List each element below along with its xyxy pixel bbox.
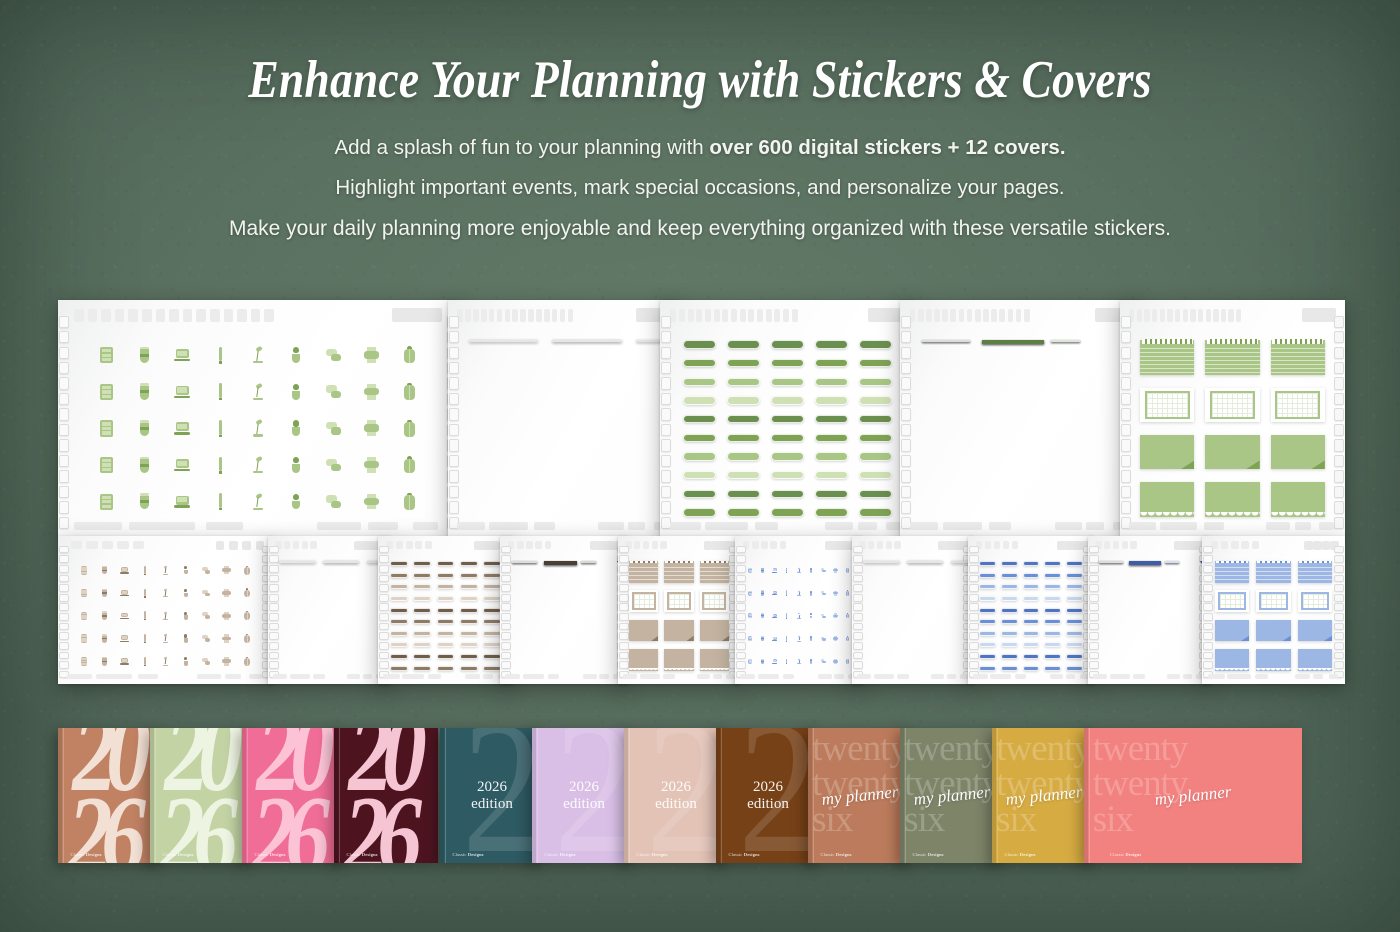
page-tab-15[interactable] xyxy=(792,309,798,322)
footer-button-3[interactable] xyxy=(931,674,944,679)
sticker-icon-laptop[interactable] xyxy=(120,565,130,575)
sticker-icon-envelope[interactable] xyxy=(748,636,754,642)
footer-button-5[interactable] xyxy=(249,674,263,679)
sticker-icon-office-building[interactable] xyxy=(120,588,130,598)
sticker-card-box[interactable] xyxy=(907,561,944,563)
side-tab-apr[interactable] xyxy=(501,584,511,592)
sticker-label-pill[interactable] xyxy=(1066,596,1083,601)
page-tab-1[interactable] xyxy=(71,541,82,549)
sticker-note-spiral[interactable] xyxy=(1271,340,1325,375)
sticker-icon-notebook[interactable] xyxy=(808,590,814,596)
settings-icon[interactable] xyxy=(590,541,599,550)
side-tab-aug[interactable] xyxy=(501,623,511,631)
sticker-label-pill[interactable] xyxy=(771,471,804,479)
sticker-label-pill[interactable] xyxy=(727,396,760,404)
sticker-label-pill[interactable] xyxy=(413,631,431,636)
footer-button-0[interactable] xyxy=(1093,674,1108,679)
sticker-icon-calculator[interactable] xyxy=(784,613,790,619)
eraser-icon[interactable] xyxy=(953,541,962,550)
sticker-icon-potted-plant[interactable] xyxy=(287,346,305,364)
sticker-icon-usb-drive[interactable] xyxy=(173,456,191,474)
sticker-note-spiral[interactable] xyxy=(629,561,658,583)
side-tab-nov[interactable] xyxy=(379,652,389,660)
highlighter-icon[interactable] xyxy=(1181,541,1190,550)
side-tab-jun[interactable] xyxy=(619,603,629,611)
side-tab-jul[interactable] xyxy=(1203,613,1213,621)
page-tab-9[interactable] xyxy=(975,309,981,322)
sticker-icon-printer[interactable] xyxy=(222,565,232,575)
sticker-icon-smartphone[interactable] xyxy=(181,611,191,621)
sticker-icon-chat-bubbles[interactable] xyxy=(325,346,343,364)
sticker-icon-potted-plant[interactable] xyxy=(181,565,191,575)
sticker-icon-wallet[interactable] xyxy=(173,419,191,437)
sticker-icon-backpack[interactable] xyxy=(249,419,267,437)
footer-button-4[interactable] xyxy=(1183,674,1192,679)
sticker-note-spiral[interactable] xyxy=(664,561,693,583)
page-tab-9[interactable] xyxy=(183,309,193,322)
sticker-label-pill[interactable] xyxy=(727,415,760,423)
side-tab-may[interactable] xyxy=(59,594,69,602)
sticker-banner-outline[interactable] xyxy=(512,561,538,563)
page-tab-13[interactable] xyxy=(774,309,780,322)
page-tab-1[interactable] xyxy=(74,309,84,322)
sticker-icon-camera[interactable] xyxy=(820,590,826,596)
side-tab-oct[interactable] xyxy=(1121,470,1131,482)
page-tab-5[interactable] xyxy=(545,541,552,549)
side-tab-apr[interactable] xyxy=(1121,377,1131,389)
side-tab-all[interactable] xyxy=(969,546,979,554)
page-tab-3[interactable] xyxy=(473,309,479,322)
sticker-label-pill[interactable] xyxy=(683,415,716,423)
sticker-label-pill[interactable] xyxy=(437,584,455,589)
footer-button-4[interactable] xyxy=(368,522,397,530)
footer-button-4[interactable] xyxy=(713,674,722,679)
side-tab-nov[interactable] xyxy=(853,652,863,660)
side-tab-all[interactable] xyxy=(379,546,389,554)
sticker-note-spiral[interactable] xyxy=(1205,340,1259,375)
sticker-label-pill[interactable] xyxy=(979,561,996,566)
sticker-icon-folder[interactable] xyxy=(211,456,229,474)
sticker-note-grid[interactable] xyxy=(629,590,658,612)
side-tab-jan[interactable] xyxy=(1121,331,1131,343)
side-tab-feb[interactable] xyxy=(449,347,459,359)
side-tab-aug[interactable] xyxy=(661,439,671,451)
side-tab-may[interactable] xyxy=(59,393,69,405)
page-tab-15[interactable] xyxy=(264,309,274,322)
highlighter-icon[interactable] xyxy=(1313,541,1322,550)
side-tab-jun[interactable] xyxy=(59,408,69,420)
sticker-label-pill[interactable] xyxy=(1023,654,1040,659)
sticker-label-pill[interactable] xyxy=(727,490,760,498)
side-tab-dec[interactable] xyxy=(269,661,279,669)
footer-button-1[interactable] xyxy=(96,674,132,679)
side-tab-nov[interactable] xyxy=(1089,652,1099,660)
footer-button-2[interactable] xyxy=(783,674,795,679)
sticker-icon-envelope[interactable] xyxy=(97,456,115,474)
page-tab-6[interactable] xyxy=(950,309,956,322)
sticker-label-pill[interactable] xyxy=(683,396,716,404)
footer-button-0[interactable] xyxy=(740,674,755,679)
side-tab-dec[interactable] xyxy=(853,661,863,669)
sticker-icon-smartphone[interactable] xyxy=(287,419,305,437)
side-tab-sep[interactable] xyxy=(853,632,863,640)
side-tab-aug[interactable] xyxy=(1203,623,1213,631)
side-tab-feb[interactable] xyxy=(736,565,746,573)
page-tab-3[interactable] xyxy=(1231,541,1238,549)
eraser-icon[interactable] xyxy=(369,541,378,550)
footer-button-1[interactable] xyxy=(1160,522,1197,530)
side-tab-mar[interactable] xyxy=(449,362,459,374)
settings-icon[interactable] xyxy=(392,308,406,322)
sticker-label-pill[interactable] xyxy=(390,666,408,671)
sticker-note-grid[interactable] xyxy=(700,590,729,612)
sticker-icon-camera[interactable] xyxy=(201,588,211,598)
side-tab-jul[interactable] xyxy=(269,613,279,621)
page-tab-2[interactable] xyxy=(465,309,471,322)
footer-button-3[interactable] xyxy=(1055,522,1081,530)
sticker-icon-thermos[interactable] xyxy=(181,634,191,644)
eraser-icon[interactable] xyxy=(242,541,251,550)
sticker-label-pill[interactable] xyxy=(460,654,478,659)
side-tab-jan[interactable] xyxy=(1203,555,1213,563)
page-tab-5[interactable] xyxy=(1012,541,1019,549)
sticker-icon-printer[interactable] xyxy=(363,346,381,364)
page-tab-3[interactable] xyxy=(688,309,694,322)
side-tab-mar[interactable] xyxy=(661,362,671,374)
sticker-label-pill[interactable] xyxy=(413,596,431,601)
sticker-label-pill[interactable] xyxy=(460,584,478,589)
side-tab-mar[interactable] xyxy=(1334,575,1344,583)
side-tab-may[interactable] xyxy=(1334,393,1344,405)
footer-button-1[interactable] xyxy=(489,522,527,530)
sticker-note-spiral[interactable] xyxy=(1298,561,1332,583)
sticker-label-pill[interactable] xyxy=(1023,608,1040,613)
footer-button-1[interactable] xyxy=(1227,674,1251,679)
page-tab-4[interactable] xyxy=(652,541,658,549)
side-tab-jan[interactable] xyxy=(661,331,671,343)
side-tab-jan[interactable] xyxy=(501,555,511,563)
sticker-label-pill[interactable] xyxy=(815,415,848,423)
footer-button-5[interactable] xyxy=(1319,522,1333,530)
sticker-label-pill[interactable] xyxy=(1023,561,1040,566)
page-tab-2[interactable] xyxy=(86,541,97,549)
page-tab-11[interactable] xyxy=(991,309,997,322)
side-tab-mar[interactable] xyxy=(59,362,69,374)
side-tab-all[interactable] xyxy=(736,546,746,554)
sticker-note-spiral[interactable] xyxy=(1215,561,1249,583)
sticker-icon-calculator[interactable] xyxy=(140,611,150,621)
sticker-icon-smartwatch[interactable] xyxy=(845,590,851,596)
side-tab-jun[interactable] xyxy=(1203,603,1213,611)
sticker-card-grid[interactable] xyxy=(863,561,900,563)
side-tab-all[interactable] xyxy=(1334,546,1344,554)
sticker-icon-notebook[interactable] xyxy=(181,588,191,598)
side-tab-aug[interactable] xyxy=(59,623,69,631)
eraser-icon[interactable] xyxy=(1072,541,1081,550)
sticker-sheet-taupe-notes[interactable] xyxy=(618,536,740,684)
footer-button-4[interactable] xyxy=(1066,674,1075,679)
sticker-note-grid[interactable] xyxy=(1140,388,1194,423)
page-tab-5[interactable] xyxy=(1160,309,1165,322)
sticker-sheet-blue-banners[interactable] xyxy=(1088,536,1210,684)
side-tab-sep[interactable] xyxy=(661,455,671,467)
page-tab-5[interactable] xyxy=(780,541,787,549)
side-tab-apr[interactable] xyxy=(59,584,69,592)
sticker-label-pill[interactable] xyxy=(771,340,804,348)
sticker-icon-pen[interactable] xyxy=(784,567,790,573)
sticker-label-pill[interactable] xyxy=(727,340,760,348)
sticker-label-pill[interactable] xyxy=(1023,573,1040,578)
cover-pink-2026[interactable]: 2026Classic Designs xyxy=(242,728,346,863)
side-tab-dec[interactable] xyxy=(59,661,69,669)
side-tab-jun[interactable] xyxy=(501,603,511,611)
sticker-icon-cake[interactable] xyxy=(363,456,381,474)
sticker-note-spiral[interactable] xyxy=(1256,561,1290,583)
sticker-square[interactable] xyxy=(581,561,596,563)
highlighter-icon[interactable] xyxy=(361,541,370,550)
side-tab-sep[interactable] xyxy=(1121,455,1131,467)
sticker-label-pill[interactable] xyxy=(1023,584,1040,589)
sticker-sheet-taupe-icons[interactable] xyxy=(58,536,273,684)
sticker-icon-magnifier[interactable] xyxy=(161,657,171,667)
side-tab-sep[interactable] xyxy=(969,632,979,640)
sticker-label-pill[interactable] xyxy=(390,561,408,566)
side-tab-all[interactable] xyxy=(1334,316,1344,328)
footer-button-4[interactable] xyxy=(834,674,843,679)
footer-button-5[interactable] xyxy=(726,674,734,679)
footer-button-0[interactable] xyxy=(74,522,122,530)
sticker-icon-water-bottle[interactable] xyxy=(832,659,838,665)
sticker-icon-filing-cabinet[interactable] xyxy=(97,346,115,364)
sticker-label-pill[interactable] xyxy=(683,340,716,348)
side-tab-feb[interactable] xyxy=(619,565,629,573)
sticker-label-pill[interactable] xyxy=(483,631,501,636)
footer-button-3[interactable] xyxy=(598,522,624,530)
sticker-icon-potted-plant[interactable] xyxy=(808,567,814,573)
sticker-label-pill[interactable] xyxy=(1001,631,1018,636)
sticker-label-pill[interactable] xyxy=(979,596,996,601)
side-tab-mar[interactable] xyxy=(901,362,911,374)
sticker-label-pill[interactable] xyxy=(859,490,892,498)
side-tab-nov[interactable] xyxy=(59,486,69,498)
sticker-label-pill[interactable] xyxy=(390,573,408,578)
side-tab-feb[interactable] xyxy=(661,347,671,359)
side-tab-may[interactable] xyxy=(736,594,746,602)
footer-button-2[interactable] xyxy=(206,522,243,530)
sticker-label-pill[interactable] xyxy=(683,378,716,386)
sticker-label-pill[interactable] xyxy=(1001,573,1018,578)
sticker-label-pill[interactable] xyxy=(1023,631,1040,636)
page-tab-7[interactable] xyxy=(722,309,728,322)
side-tab-mar[interactable] xyxy=(501,575,511,583)
sticker-label-pill[interactable] xyxy=(483,584,501,589)
page-tab-9[interactable] xyxy=(1190,309,1195,322)
sticker-icon-pen-holder[interactable] xyxy=(772,659,778,665)
side-tab-feb[interactable] xyxy=(269,565,279,573)
sticker-icon-desk-lamp[interactable] xyxy=(796,567,802,573)
footer-button-0[interactable] xyxy=(1208,674,1225,679)
side-tab-oct[interactable] xyxy=(619,642,629,650)
footer-button-2[interactable] xyxy=(428,674,440,679)
page-tab-9[interactable] xyxy=(520,309,526,322)
side-tab-may[interactable] xyxy=(449,393,459,405)
settings-icon[interactable] xyxy=(825,541,834,550)
side-tab-oct[interactable] xyxy=(1203,642,1213,650)
sticker-label-pill[interactable] xyxy=(413,584,431,589)
sticker-label-pill[interactable] xyxy=(1066,573,1083,578)
page-tab-2[interactable] xyxy=(88,309,98,322)
side-tab-dec[interactable] xyxy=(449,501,459,513)
sticker-sheet-blue-notes[interactable] xyxy=(1202,536,1345,684)
side-tab-jun[interactable] xyxy=(901,408,911,420)
page-tab-7[interactable] xyxy=(1175,309,1180,322)
page-tab-5[interactable] xyxy=(1252,541,1259,549)
sticker-label-pill[interactable] xyxy=(1044,642,1061,647)
sticker-icon-cash[interactable] xyxy=(784,659,790,665)
highlighter-icon[interactable] xyxy=(598,541,607,550)
sticker-note-grid[interactable] xyxy=(1298,590,1332,612)
page-tab-11[interactable] xyxy=(210,309,220,322)
footer-button-1[interactable] xyxy=(129,522,195,530)
sticker-icon-book[interactable] xyxy=(201,657,211,667)
page-tab-13[interactable] xyxy=(552,309,558,322)
sticker-label-pill[interactable] xyxy=(1044,561,1061,566)
page-tab-8[interactable] xyxy=(512,309,518,322)
sticker-icon-chocolate-bar[interactable] xyxy=(201,634,211,644)
page-tab-2[interactable] xyxy=(634,541,640,549)
side-tab-jul[interactable] xyxy=(59,424,69,436)
sticker-label-pill[interactable] xyxy=(437,631,455,636)
side-tab-aug[interactable] xyxy=(379,623,389,631)
footer-button-2[interactable] xyxy=(1133,674,1144,679)
side-tab-jun[interactable] xyxy=(1334,603,1344,611)
footer-button-0[interactable] xyxy=(857,674,872,679)
side-tab-jun[interactable] xyxy=(1121,408,1131,420)
side-tab-dec[interactable] xyxy=(1334,661,1344,669)
page-tab-12[interactable] xyxy=(1213,309,1218,322)
side-tab-jul[interactable] xyxy=(969,613,979,621)
side-tab-jan[interactable] xyxy=(59,555,69,563)
sticker-icon-desk-lamp[interactable] xyxy=(161,565,171,575)
side-tab-apr[interactable] xyxy=(379,584,389,592)
side-tab-feb[interactable] xyxy=(501,565,511,573)
sticker-label-pill[interactable] xyxy=(815,508,848,516)
sticker-label-pill[interactable] xyxy=(1066,631,1083,636)
page-tab-10[interactable] xyxy=(528,309,534,322)
page-tab-5[interactable] xyxy=(310,541,316,549)
sticker-icon-usb-drive[interactable] xyxy=(120,634,130,644)
page-tab-5[interactable] xyxy=(133,541,144,549)
side-tab-mar[interactable] xyxy=(1121,362,1131,374)
sticker-icon-suitcase[interactable] xyxy=(845,567,851,573)
page-tab-3[interactable] xyxy=(1144,309,1149,322)
side-tab-feb[interactable] xyxy=(59,565,69,573)
sticker-icon-steering-wheel[interactable] xyxy=(99,588,109,598)
page-tab-2[interactable] xyxy=(284,541,290,549)
sticker-label-pill[interactable] xyxy=(483,642,501,647)
page-tab-10[interactable] xyxy=(748,309,754,322)
settings-icon[interactable] xyxy=(1174,541,1183,550)
sticker-note-fold[interactable] xyxy=(700,620,729,642)
footer-button-0[interactable] xyxy=(67,674,93,679)
sticker-icon-laptop[interactable] xyxy=(772,567,778,573)
footer-button-3[interactable] xyxy=(1295,674,1311,679)
sticker-label-pill[interactable] xyxy=(859,340,892,348)
highlighter-icon[interactable] xyxy=(1065,541,1074,550)
page-tab-4[interactable] xyxy=(770,541,777,549)
sticker-label-pill[interactable] xyxy=(413,619,431,624)
sticker-label-pill[interactable] xyxy=(1066,666,1083,671)
sticker-icon-folder[interactable] xyxy=(784,636,790,642)
side-tab-jul[interactable] xyxy=(1089,613,1099,621)
sticker-icon-books[interactable] xyxy=(222,588,232,598)
page-tab-9[interactable] xyxy=(740,309,746,322)
sticker-icon-chat-bubbles[interactable] xyxy=(201,565,211,575)
page-tab-8[interactable] xyxy=(967,309,973,322)
sticker-icon-cake[interactable] xyxy=(222,634,232,644)
side-tab-may[interactable] xyxy=(379,594,389,602)
sticker-icon-clipboard[interactable] xyxy=(820,613,826,619)
footer-button-2[interactable] xyxy=(663,674,674,679)
sticker-icon-confetti[interactable] xyxy=(784,590,790,596)
side-tab-jul[interactable] xyxy=(1121,424,1131,436)
sticker-icon-headphones[interactable] xyxy=(97,383,115,401)
sticker-note-torn[interactable] xyxy=(629,649,658,671)
sticker-note-spiral[interactable] xyxy=(1140,340,1194,375)
sticker-sheet-blue-cards[interactable] xyxy=(852,536,974,684)
sticker-icon-wardrobe[interactable] xyxy=(135,493,153,511)
sticker-label-pill[interactable] xyxy=(979,654,996,659)
sticker-label-pill[interactable] xyxy=(771,396,804,404)
page-tab-11[interactable] xyxy=(536,309,542,322)
highlighter-icon[interactable] xyxy=(833,541,842,550)
sticker-icon-coffee-machine[interactable] xyxy=(181,657,191,667)
side-tab-may[interactable] xyxy=(1334,594,1344,602)
sticker-square[interactable] xyxy=(1165,561,1180,563)
sticker-icon-book[interactable] xyxy=(820,659,826,665)
side-tab-jul[interactable] xyxy=(501,613,511,621)
sticker-icon-headphones[interactable] xyxy=(748,590,754,596)
sticker-icon-smartphone[interactable] xyxy=(808,613,814,619)
side-tab-apr[interactable] xyxy=(901,377,911,389)
side-tab-feb[interactable] xyxy=(1334,347,1344,359)
sticker-label-pill[interactable] xyxy=(437,561,455,566)
side-tab-apr[interactable] xyxy=(736,584,746,592)
sticker-label-pill[interactable] xyxy=(683,508,716,516)
sticker-note-grid[interactable] xyxy=(664,590,693,612)
sticker-note-fold[interactable] xyxy=(1256,620,1290,642)
side-tab-jul[interactable] xyxy=(449,424,459,436)
side-tab-dec[interactable] xyxy=(661,501,671,513)
side-tab-dec[interactable] xyxy=(901,501,911,513)
sticker-label-pill[interactable] xyxy=(413,642,431,647)
side-tab-mar[interactable] xyxy=(736,575,746,583)
page-tab-4[interactable] xyxy=(1152,309,1157,322)
sticker-label-pill[interactable] xyxy=(1023,596,1040,601)
side-tab-oct[interactable] xyxy=(661,470,671,482)
footer-button-1[interactable] xyxy=(758,674,779,679)
side-tab-mar[interactable] xyxy=(1089,575,1099,583)
page-tab-3[interactable] xyxy=(101,309,111,322)
page-tab-2[interactable] xyxy=(918,309,924,322)
page-tab-2[interactable] xyxy=(396,541,403,549)
page-tab-4[interactable] xyxy=(302,541,308,549)
sticker-note-torn[interactable] xyxy=(700,649,729,671)
sticker-icon-confetti[interactable] xyxy=(211,383,229,401)
sticker-label-pill[interactable] xyxy=(1066,584,1083,589)
side-tab-may[interactable] xyxy=(661,393,671,405)
side-tab-nov[interactable] xyxy=(501,652,511,660)
